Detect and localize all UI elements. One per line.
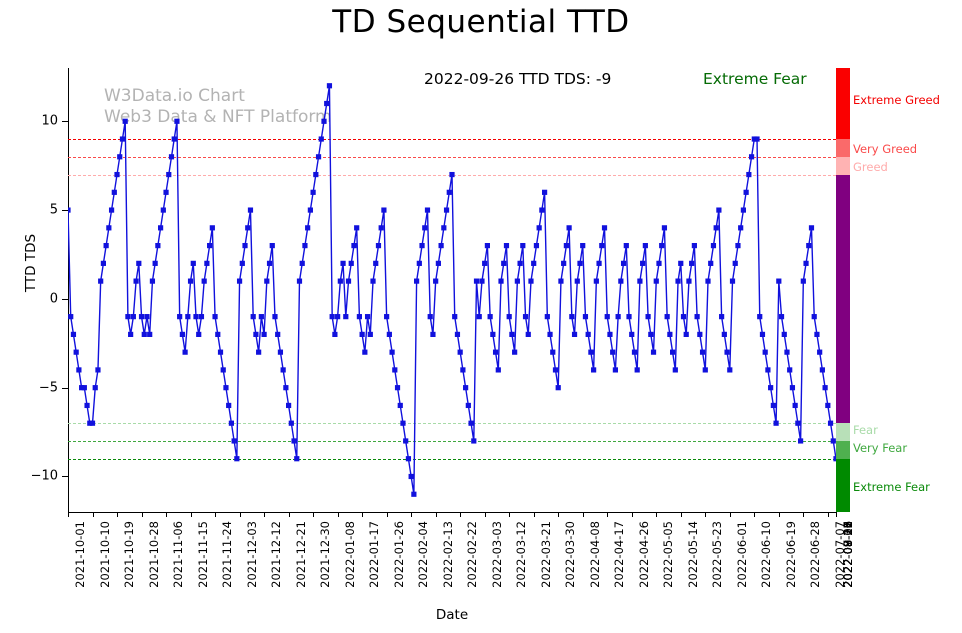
series-marker bbox=[607, 332, 612, 337]
series-marker bbox=[155, 243, 160, 248]
series-marker bbox=[714, 225, 719, 230]
series-marker bbox=[370, 279, 375, 284]
series-marker bbox=[515, 279, 520, 284]
series-marker bbox=[327, 83, 332, 88]
series-marker bbox=[166, 172, 171, 177]
series-marker bbox=[542, 190, 547, 195]
series-marker bbox=[147, 332, 152, 337]
series-marker bbox=[626, 314, 631, 319]
x-tick bbox=[313, 512, 314, 517]
x-tick bbox=[730, 512, 731, 517]
series-marker bbox=[150, 279, 155, 284]
series-marker bbox=[616, 314, 621, 319]
series-marker bbox=[264, 279, 269, 284]
series-marker bbox=[199, 314, 204, 319]
series-marker bbox=[291, 438, 296, 443]
series-marker bbox=[501, 261, 506, 266]
series-marker bbox=[528, 279, 533, 284]
x-tick bbox=[240, 512, 241, 517]
series-marker bbox=[343, 314, 348, 319]
series-marker bbox=[474, 279, 479, 284]
series-marker bbox=[773, 421, 778, 426]
x-tick-label: 2021-12-30 bbox=[318, 521, 332, 588]
series-marker bbox=[719, 314, 724, 319]
series-marker bbox=[332, 332, 337, 337]
series-marker bbox=[362, 350, 367, 355]
series-marker bbox=[207, 243, 212, 248]
x-tick-label: 2021-11-15 bbox=[196, 521, 210, 588]
x-tick-label: 2022-06-10 bbox=[759, 521, 773, 588]
series-marker bbox=[234, 456, 239, 461]
x-tick-label: 2022-01-08 bbox=[343, 521, 357, 588]
x-tick-label: 2022-09-26 bbox=[841, 521, 855, 588]
series-marker bbox=[825, 403, 830, 408]
series-marker bbox=[261, 332, 266, 337]
series-marker bbox=[248, 207, 253, 212]
series-marker bbox=[120, 136, 125, 141]
series-marker bbox=[340, 261, 345, 266]
x-tick-label: 2022-05-14 bbox=[686, 521, 700, 588]
series-marker bbox=[330, 314, 335, 319]
series-marker bbox=[471, 438, 476, 443]
series-marker bbox=[602, 225, 607, 230]
y-tick-label: 0 bbox=[0, 291, 58, 306]
series-marker bbox=[776, 279, 781, 284]
series-marker bbox=[278, 350, 283, 355]
series-marker bbox=[403, 438, 408, 443]
series-marker bbox=[93, 385, 98, 390]
series-marker bbox=[708, 261, 713, 266]
series-marker bbox=[686, 279, 691, 284]
series-marker bbox=[651, 350, 656, 355]
series-marker bbox=[308, 207, 313, 212]
colorbar-label-extreme-fear: Extreme Fear bbox=[853, 480, 930, 494]
x-tick-label: 2021-11-24 bbox=[220, 521, 234, 588]
series-marker bbox=[300, 261, 305, 266]
chart-root: TD Sequential TTD 1050−5−10 2021-10-0120… bbox=[0, 0, 962, 633]
x-tick-label: 2022-05-05 bbox=[661, 521, 675, 588]
series-marker bbox=[376, 243, 381, 248]
series-marker bbox=[430, 332, 435, 337]
series-marker bbox=[763, 350, 768, 355]
series-marker bbox=[817, 350, 822, 355]
series-marker bbox=[381, 207, 386, 212]
x-tick bbox=[656, 512, 657, 517]
series-marker bbox=[798, 438, 803, 443]
x-tick-label: 2021-11-06 bbox=[171, 521, 185, 588]
series-marker bbox=[534, 243, 539, 248]
x-tick-label: 2022-01-26 bbox=[392, 521, 406, 588]
series-marker bbox=[193, 314, 198, 319]
series-marker bbox=[439, 243, 444, 248]
series-marker bbox=[311, 190, 316, 195]
series-marker bbox=[125, 314, 130, 319]
x-tick bbox=[828, 512, 829, 517]
series-marker bbox=[629, 332, 634, 337]
series-marker bbox=[754, 136, 759, 141]
x-tick-label: 2022-02-13 bbox=[441, 521, 455, 588]
series-marker bbox=[645, 314, 650, 319]
series-marker bbox=[531, 261, 536, 266]
series-marker bbox=[123, 119, 128, 124]
series-marker bbox=[283, 385, 288, 390]
series-marker bbox=[251, 314, 256, 319]
series-marker bbox=[656, 261, 661, 266]
x-tick-label: 2022-03-30 bbox=[563, 521, 577, 588]
series-marker bbox=[594, 279, 599, 284]
series-marker bbox=[749, 154, 754, 159]
y-tick-label: 5 bbox=[0, 203, 58, 218]
series-marker bbox=[357, 314, 362, 319]
series-marker bbox=[790, 385, 795, 390]
series-marker bbox=[128, 332, 133, 337]
x-tick bbox=[779, 512, 780, 517]
series-marker bbox=[558, 279, 563, 284]
series-marker bbox=[662, 225, 667, 230]
series-marker bbox=[387, 332, 392, 337]
series-marker bbox=[667, 332, 672, 337]
series-marker bbox=[703, 367, 708, 372]
series-marker bbox=[567, 225, 572, 230]
series-marker bbox=[400, 421, 405, 426]
series-marker bbox=[539, 207, 544, 212]
series-marker bbox=[313, 172, 318, 177]
colorbar-extreme-fear-band bbox=[836, 459, 850, 512]
series-marker bbox=[346, 279, 351, 284]
series-marker bbox=[512, 350, 517, 355]
series-marker bbox=[419, 243, 424, 248]
x-tick-label: 2022-03-12 bbox=[514, 521, 528, 588]
series-marker bbox=[526, 332, 531, 337]
series-marker bbox=[196, 332, 201, 337]
x-tick bbox=[583, 512, 584, 517]
x-tick bbox=[264, 512, 265, 517]
series-marker bbox=[569, 314, 574, 319]
series-marker bbox=[354, 225, 359, 230]
series-marker bbox=[458, 350, 463, 355]
series-marker bbox=[131, 314, 136, 319]
series-marker bbox=[286, 403, 291, 408]
series-marker bbox=[624, 243, 629, 248]
x-axis-label: Date bbox=[68, 607, 836, 623]
series-marker bbox=[406, 456, 411, 461]
series-marker bbox=[101, 261, 106, 266]
series-marker bbox=[463, 385, 468, 390]
series-marker bbox=[760, 332, 765, 337]
series-marker bbox=[498, 279, 503, 284]
y-tick-label: −5 bbox=[0, 380, 58, 395]
td-sequential-series bbox=[68, 68, 836, 512]
series-marker bbox=[689, 261, 694, 266]
colorbar-label-very-greed: Very Greed bbox=[853, 142, 917, 156]
series-marker bbox=[793, 403, 798, 408]
series-marker bbox=[174, 119, 179, 124]
series-marker bbox=[204, 261, 209, 266]
x-tick bbox=[289, 512, 290, 517]
y-tick-label: −10 bbox=[0, 469, 58, 484]
x-tick bbox=[836, 512, 837, 517]
x-tick bbox=[117, 512, 118, 517]
series-marker bbox=[384, 314, 389, 319]
series-marker bbox=[675, 279, 680, 284]
series-marker bbox=[572, 332, 577, 337]
series-marker bbox=[436, 261, 441, 266]
series-marker bbox=[735, 243, 740, 248]
series-marker bbox=[724, 350, 729, 355]
series-marker bbox=[425, 207, 430, 212]
series-marker bbox=[496, 367, 501, 372]
x-tick bbox=[534, 512, 535, 517]
series-marker bbox=[226, 403, 231, 408]
series-marker bbox=[738, 225, 743, 230]
x-tick-label: 2022-05-23 bbox=[710, 521, 724, 588]
series-marker bbox=[493, 350, 498, 355]
series-marker bbox=[547, 332, 552, 337]
series-marker bbox=[305, 225, 310, 230]
x-tick-label: 2022-04-08 bbox=[588, 521, 602, 588]
series-marker bbox=[643, 243, 648, 248]
colorbar-label-extreme-greed: Extreme Greed bbox=[853, 93, 940, 107]
series-marker bbox=[482, 261, 487, 266]
colorbar-fear-band bbox=[836, 423, 850, 441]
series-marker bbox=[221, 367, 226, 372]
series-marker bbox=[488, 314, 493, 319]
series-marker bbox=[659, 243, 664, 248]
series-marker bbox=[831, 438, 836, 443]
x-tick bbox=[338, 512, 339, 517]
series-marker bbox=[365, 314, 370, 319]
series-marker bbox=[640, 261, 645, 266]
series-marker bbox=[460, 367, 465, 372]
series-marker bbox=[389, 350, 394, 355]
series-marker bbox=[169, 154, 174, 159]
series-marker bbox=[765, 367, 770, 372]
series-marker bbox=[202, 279, 207, 284]
series-marker bbox=[229, 421, 234, 426]
series-marker bbox=[523, 314, 528, 319]
series-marker bbox=[441, 225, 446, 230]
series-marker bbox=[577, 261, 582, 266]
series-marker bbox=[253, 332, 258, 337]
colorbar-label-very-fear: Very Fear bbox=[853, 441, 907, 455]
series-marker bbox=[820, 367, 825, 372]
series-marker bbox=[351, 243, 356, 248]
series-marker bbox=[591, 367, 596, 372]
series-marker bbox=[289, 421, 294, 426]
series-marker bbox=[368, 332, 373, 337]
series-marker bbox=[771, 403, 776, 408]
series-marker bbox=[599, 243, 604, 248]
series-marker bbox=[727, 367, 732, 372]
x-tick-label: 2021-10-10 bbox=[98, 521, 112, 588]
series-marker bbox=[232, 438, 237, 443]
series-marker bbox=[114, 172, 119, 177]
series-marker bbox=[705, 279, 710, 284]
series-marker bbox=[452, 314, 457, 319]
series-marker bbox=[112, 190, 117, 195]
series-marker bbox=[409, 474, 414, 479]
series-marker bbox=[795, 421, 800, 426]
series-marker bbox=[242, 243, 247, 248]
x-tick bbox=[803, 512, 804, 517]
series-marker bbox=[153, 261, 158, 266]
colorbar-extreme-greed-band bbox=[836, 68, 850, 139]
colorbar-very-greed-band bbox=[836, 139, 850, 157]
series-marker bbox=[812, 314, 817, 319]
x-tick-label: 2021-12-03 bbox=[245, 521, 259, 588]
series-marker bbox=[605, 314, 610, 319]
x-tick bbox=[387, 512, 388, 517]
series-marker bbox=[517, 261, 522, 266]
series-marker bbox=[433, 279, 438, 284]
series-marker bbox=[575, 279, 580, 284]
series-marker bbox=[477, 314, 482, 319]
series-marker bbox=[188, 279, 193, 284]
series-marker bbox=[485, 243, 490, 248]
series-marker bbox=[823, 385, 828, 390]
series-marker bbox=[82, 385, 87, 390]
series-marker bbox=[618, 279, 623, 284]
y-axis-label-holder: TTD TDS bbox=[0, 248, 28, 278]
series-marker bbox=[316, 154, 321, 159]
series-marker bbox=[281, 367, 286, 372]
series-marker bbox=[564, 243, 569, 248]
series-marker bbox=[782, 332, 787, 337]
series-marker bbox=[610, 350, 615, 355]
series-marker bbox=[520, 243, 525, 248]
series-marker bbox=[191, 261, 196, 266]
series-marker bbox=[757, 314, 762, 319]
x-tick bbox=[607, 512, 608, 517]
series-marker bbox=[809, 225, 814, 230]
x-tick bbox=[754, 512, 755, 517]
series-marker bbox=[744, 190, 749, 195]
series-marker bbox=[172, 136, 177, 141]
series-marker bbox=[673, 367, 678, 372]
series-marker bbox=[144, 314, 149, 319]
x-axis-line bbox=[68, 512, 836, 513]
series-marker bbox=[586, 332, 591, 337]
x-tick bbox=[705, 512, 706, 517]
x-tick bbox=[93, 512, 94, 517]
series-marker bbox=[801, 279, 806, 284]
series-marker bbox=[632, 350, 637, 355]
series-marker bbox=[828, 421, 833, 426]
series-marker bbox=[588, 350, 593, 355]
series-marker bbox=[490, 332, 495, 337]
x-tick bbox=[215, 512, 216, 517]
series-marker bbox=[556, 385, 561, 390]
series-marker bbox=[319, 136, 324, 141]
series-marker bbox=[275, 332, 280, 337]
series-marker bbox=[411, 492, 416, 497]
x-tick-label: 2022-01-17 bbox=[367, 521, 381, 588]
series-marker bbox=[68, 314, 73, 319]
series-marker bbox=[256, 350, 261, 355]
x-tick-label: 2022-02-04 bbox=[416, 521, 430, 588]
series-marker bbox=[722, 332, 727, 337]
series-marker bbox=[109, 207, 114, 212]
y-tick-label: 10 bbox=[0, 114, 58, 129]
y-axis-label: TTD TDS bbox=[23, 234, 39, 292]
series-marker bbox=[665, 314, 670, 319]
colorbar-label-greed: Greed bbox=[853, 160, 888, 174]
series-marker bbox=[139, 314, 144, 319]
series-marker bbox=[733, 261, 738, 266]
series-marker bbox=[259, 314, 264, 319]
series-marker bbox=[833, 456, 836, 461]
x-tick bbox=[166, 512, 167, 517]
series-marker bbox=[507, 314, 512, 319]
x-tick-label: 2022-02-22 bbox=[465, 521, 479, 588]
series-marker bbox=[240, 261, 245, 266]
x-tick-label: 2021-10-28 bbox=[147, 521, 161, 588]
series-marker bbox=[444, 207, 449, 212]
series-marker bbox=[504, 243, 509, 248]
series-marker bbox=[711, 243, 716, 248]
series-marker bbox=[716, 207, 721, 212]
colorbar-neutral-band bbox=[836, 175, 850, 424]
series-marker bbox=[142, 332, 147, 337]
series-marker bbox=[466, 403, 471, 408]
series-marker bbox=[297, 279, 302, 284]
series-marker bbox=[684, 332, 689, 337]
series-marker bbox=[550, 350, 555, 355]
x-tick bbox=[632, 512, 633, 517]
series-marker bbox=[117, 154, 122, 159]
colorbar-very-fear-band bbox=[836, 441, 850, 459]
series-marker bbox=[210, 225, 215, 230]
series-marker bbox=[294, 456, 299, 461]
series-marker bbox=[803, 261, 808, 266]
series-marker bbox=[637, 279, 642, 284]
series-marker bbox=[814, 332, 819, 337]
series-marker bbox=[670, 350, 675, 355]
series-marker bbox=[237, 279, 242, 284]
series-marker bbox=[71, 332, 76, 337]
series-marker bbox=[414, 279, 419, 284]
series-marker bbox=[212, 314, 217, 319]
series-marker bbox=[580, 243, 585, 248]
x-tick bbox=[142, 512, 143, 517]
x-tick bbox=[411, 512, 412, 517]
series-marker bbox=[449, 172, 454, 177]
series-marker bbox=[183, 350, 188, 355]
x-tick-label: 2022-06-01 bbox=[735, 521, 749, 588]
series-marker bbox=[468, 421, 473, 426]
series-marker bbox=[509, 332, 514, 337]
series-marker bbox=[158, 225, 163, 230]
series-marker bbox=[697, 332, 702, 337]
series-marker bbox=[185, 314, 190, 319]
x-tick-label: 2022-06-19 bbox=[784, 521, 798, 588]
series-marker bbox=[349, 261, 354, 266]
series-marker bbox=[324, 101, 329, 106]
series-marker bbox=[302, 243, 307, 248]
series-marker bbox=[392, 367, 397, 372]
x-tick-label: 2021-10-19 bbox=[122, 521, 136, 588]
series-line bbox=[68, 86, 836, 494]
series-marker bbox=[133, 279, 138, 284]
x-tick bbox=[681, 512, 682, 517]
series-marker bbox=[681, 314, 686, 319]
series-marker bbox=[218, 350, 223, 355]
series-marker bbox=[136, 261, 141, 266]
series-marker bbox=[692, 243, 697, 248]
x-tick bbox=[68, 512, 69, 517]
series-marker bbox=[746, 172, 751, 177]
series-marker bbox=[537, 225, 542, 230]
